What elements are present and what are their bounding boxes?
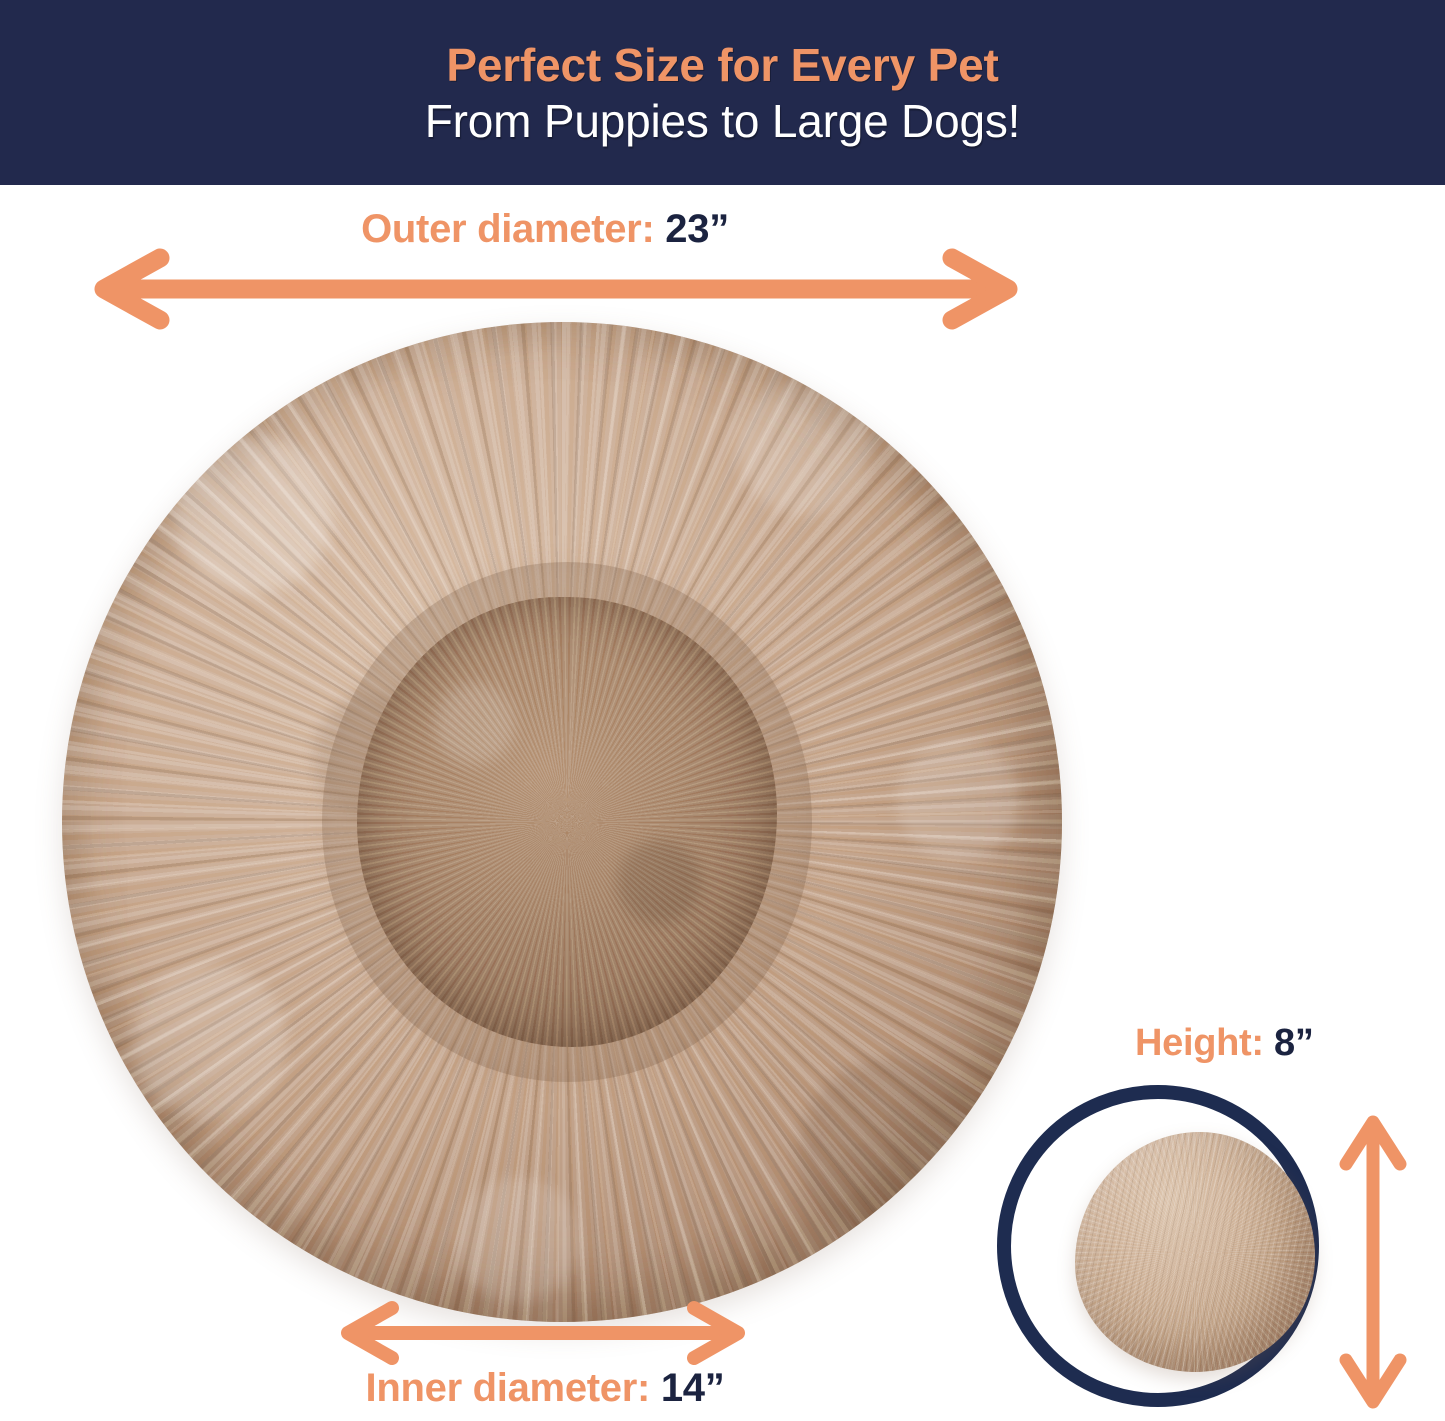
outer-diameter-value: 23”: [665, 207, 729, 251]
double-headed-horizontal-arrow-icon: [68, 252, 1044, 326]
inner-diameter-label: Inner diameter: 14”: [0, 1366, 1090, 1411]
bed-inner-cushion: [357, 597, 777, 1047]
fur-highlight-layer: [336, 575, 798, 1070]
height-label: Height: 8”: [1135, 1022, 1314, 1065]
banner-subheadline: From Puppies to Large Dogs!: [425, 94, 1020, 148]
height-value: 8”: [1274, 1022, 1314, 1064]
inner-diameter-text: Inner diameter:: [366, 1366, 650, 1410]
double-headed-vertical-arrow-icon: [1330, 1112, 1416, 1412]
banner-headline: Perfect Size for Every Pet: [446, 38, 998, 92]
pet-bed-top-view: [62, 322, 1062, 1322]
bed-outer-bolster: [62, 322, 1062, 1322]
inner-diameter-arrow: [326, 1300, 760, 1366]
outer-diameter-label: Outer diameter: 23”: [0, 207, 1090, 252]
header-banner: Perfect Size for Every Pet From Puppies …: [0, 0, 1445, 185]
height-arrow: [1330, 1112, 1416, 1412]
pet-bed-side-view-inset: [997, 1085, 1319, 1407]
inner-diameter-value: 14”: [661, 1366, 725, 1410]
outer-diameter-arrow: [68, 252, 1044, 326]
height-text: Height:: [1135, 1022, 1264, 1064]
double-headed-horizontal-arrow-icon: [326, 1300, 760, 1366]
outer-diameter-text: Outer diameter:: [361, 207, 654, 251]
